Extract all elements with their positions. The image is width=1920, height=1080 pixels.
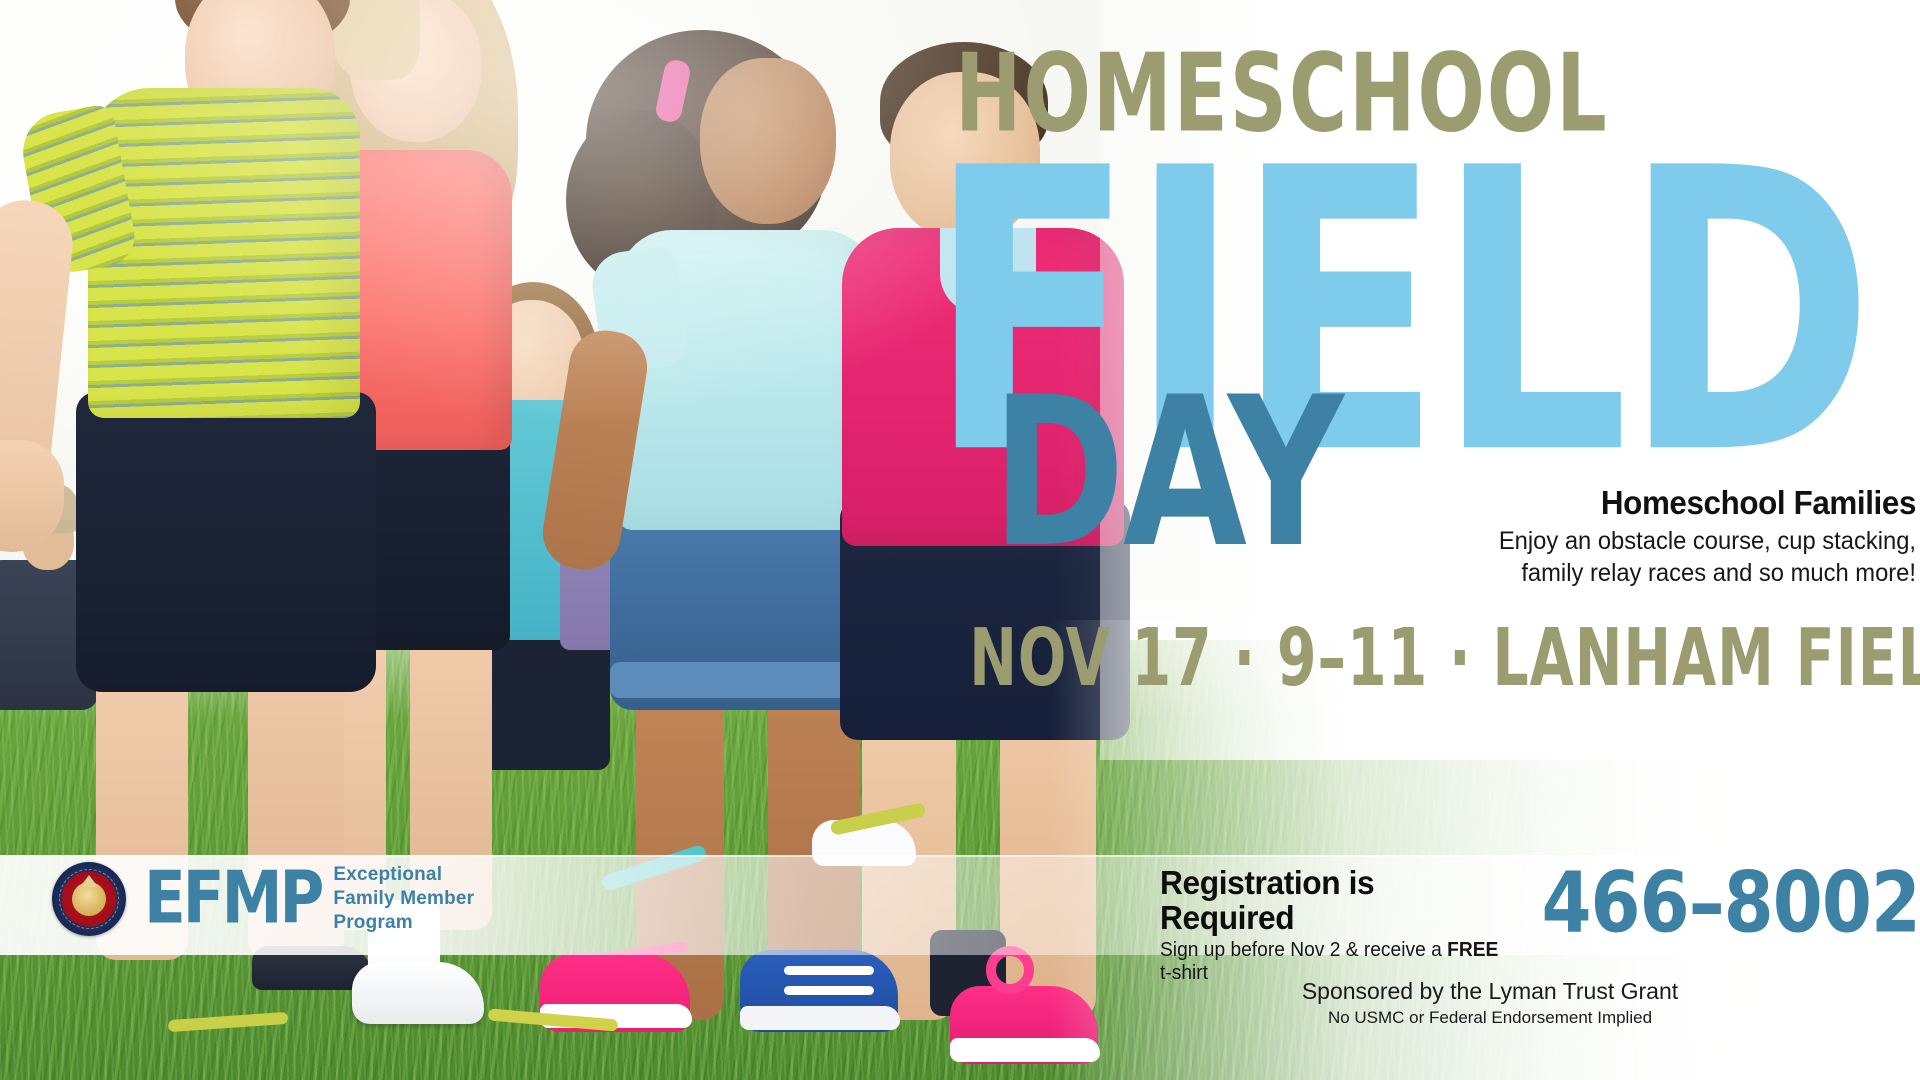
eagle-globe-anchor-icon (72, 882, 106, 916)
audience-title: Homeschool Families (1251, 484, 1916, 522)
shoe-blue-lace-upper (784, 966, 874, 975)
sponsor-line: Sponsored by the Lyman Trust Grant (1100, 978, 1880, 1006)
registration-sub-free: FREE (1447, 939, 1498, 961)
efmp-word-line2: Family Member (333, 887, 474, 911)
shoe-blue-lace-lower (784, 986, 874, 995)
shoe-white (352, 962, 484, 1024)
child-aqua-head (700, 58, 836, 224)
efmp-acronym: EFMP (144, 867, 321, 932)
disclaimer-line: No USMC or Federal Endorsement Implied (1100, 1007, 1880, 1028)
headline-block: HOMESCHOOL FIELD DAY Homeschool Families… (920, 0, 1920, 880)
efmp-word-line1: Exceptional (333, 863, 474, 887)
efmp-word-line3: Program (333, 911, 474, 935)
audience-description-line1: Enjoy an obstacle course, cup stacking, (1251, 525, 1916, 558)
usmc-seal-icon (52, 862, 126, 936)
registration-sub-prefix: Sign up before Nov 2 & receive a (1160, 939, 1447, 961)
registration-text: Registration is Required Sign up before … (1160, 866, 1525, 985)
sponsor-block: Sponsored by the Lyman Trust Grant No US… (1100, 978, 1880, 1028)
efmp-full-name: Exceptional Family Member Program (333, 863, 474, 935)
phone-number[interactable]: 466–8002 (1541, 862, 1920, 944)
child-aqua-shorts-cuff (610, 662, 870, 698)
event-details: NOV 17 · 9–11 · LANHAM FIELD (969, 612, 1910, 704)
registration-title: Registration is Required (1160, 866, 1511, 935)
audience-description-line2: family relay races and so much more! (1251, 557, 1916, 590)
shoe-blue-sole (740, 1006, 900, 1030)
child-striped-shorts (76, 392, 376, 692)
efmp-logo: EFMP Exceptional Family Member Program (52, 862, 474, 936)
poster-root: HOMESCHOOL FIELD DAY Homeschool Families… (0, 0, 1920, 1080)
audience-block: Homeschool Families Enjoy an obstacle co… (1216, 484, 1916, 590)
registration-block: Registration is Required Sign up before … (1160, 866, 1920, 985)
